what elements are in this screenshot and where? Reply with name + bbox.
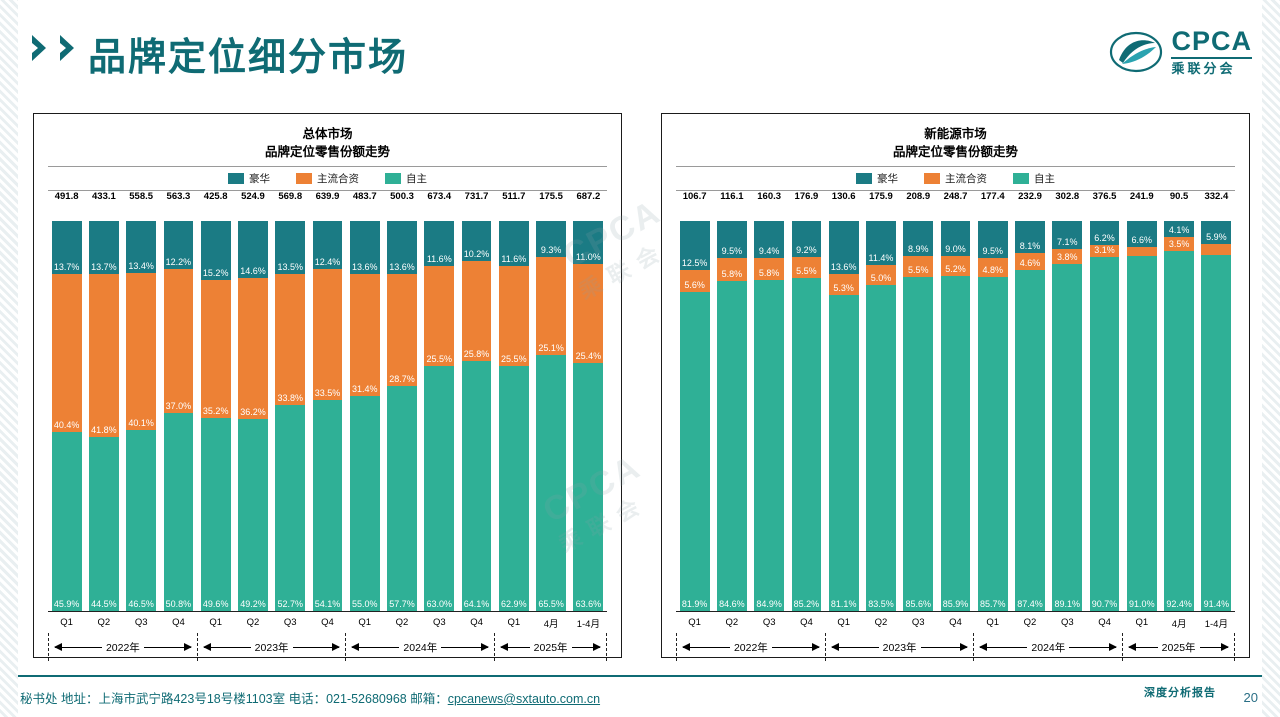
bar-segment-luxury[interactable]: 11.6%	[499, 221, 529, 266]
bar-segment-label: 3.5%	[1169, 239, 1190, 251]
bar-total-label: 511.7	[495, 191, 532, 202]
bar-segment-label: 84.6%	[719, 599, 745, 611]
axis-period-row: Q1Q2Q3Q4Q1Q2Q3Q4Q1Q2Q3Q4Q14月1-4月	[676, 611, 1235, 633]
chart-legend-nev: 豪华主流合资自主	[662, 167, 1249, 188]
bar-segment-luxury[interactable]: 11.4%	[866, 221, 896, 265]
bar-column[interactable]: 248.79.0%5.2%85.9%	[937, 191, 974, 611]
bar-segment-independent[interactable]: 83.5%	[866, 285, 896, 611]
legend-swatch-luxury	[856, 173, 872, 184]
axis-year-group: 2022年	[676, 633, 826, 661]
plot-area-overall: 491.813.7%40.4%45.9%433.113.7%41.8%44.5%…	[48, 191, 607, 611]
bar-column[interactable]: 563.312.2%37.0%50.8%	[160, 191, 197, 611]
axis-year-group: 2024年	[346, 633, 495, 661]
bar-total-label: 241.9	[1123, 191, 1160, 202]
footer-contact-text: 秘书处 地址：上海市武宁路423号18号楼1103室 电话：021-526809…	[20, 692, 448, 706]
bar-column[interactable]: 731.710.2%25.8%64.1%	[458, 191, 495, 611]
bar-total-label: 208.9	[900, 191, 937, 202]
bar-total-label: 248.7	[937, 191, 974, 202]
axis-period-label: Q1	[197, 612, 234, 633]
bar-segment-label: 25.1%	[538, 343, 564, 355]
axis-year-label: 2025年	[530, 640, 572, 655]
bar-segment-luxury[interactable]: 11.0%	[573, 221, 603, 264]
bar-segment-joint_venture[interactable]: 41.8%	[89, 274, 119, 437]
bar-column[interactable]: 524.914.6%36.2%49.2%	[234, 191, 271, 611]
bar-column[interactable]: 302.87.1%3.8%89.1%	[1049, 191, 1086, 611]
bar-segment-independent[interactable]: 81.9%	[680, 292, 710, 611]
x-axis-nev: Q1Q2Q3Q4Q1Q2Q3Q4Q1Q2Q3Q4Q14月1-4月2022年202…	[676, 611, 1235, 663]
bar-column[interactable]: 511.711.6%25.5%62.9%	[495, 191, 532, 611]
bar-segment-label: 15.2%	[203, 268, 229, 280]
axis-period-label: Q1	[1123, 612, 1160, 633]
bar-segment-label: 25.5%	[501, 354, 527, 366]
bar-stack: 8.9%5.5%85.6%	[903, 221, 933, 611]
bar-segment-label: 9.5%	[722, 246, 743, 258]
bar-column[interactable]: 175.59.3%25.1%65.5%	[532, 191, 569, 611]
bar-segment-label: 13.6%	[389, 262, 415, 274]
bar-segment-independent[interactable]: 57.7%	[387, 386, 417, 611]
bar-segment-luxury[interactable]: 12.5%	[680, 221, 710, 270]
bar-column[interactable]: 687.211.0%25.4%63.6%	[570, 191, 607, 611]
bar-segment-label: 41.8%	[91, 425, 117, 437]
chart-title-line2: 品牌定位零售份额走势	[34, 143, 621, 161]
bar-total-label: 558.5	[123, 191, 160, 202]
bar-segment-label: 4.1%	[1169, 225, 1190, 237]
axis-period-label: Q2	[234, 612, 271, 633]
page-header: 品牌定位细分市场 CPCA 乘联分会	[0, 0, 1280, 96]
bar-segment-label: 14.6%	[240, 266, 266, 278]
bar-segment-label: 36.2%	[240, 407, 266, 419]
bar-segment-independent[interactable]: 87.4%	[1015, 270, 1045, 611]
bar-column[interactable]: 433.113.7%41.8%44.5%	[85, 191, 122, 611]
bar-segment-label: 13.7%	[54, 262, 80, 274]
bar-segment-joint_venture[interactable]: 3.5%	[1164, 237, 1194, 251]
bar-segment-joint_venture[interactable]: 25.8%	[462, 261, 492, 362]
bar-segment-independent[interactable]: 64.1%	[462, 361, 492, 611]
bar-total-label: 332.4	[1198, 191, 1235, 202]
bar-segment-independent[interactable]: 81.1%	[829, 295, 859, 611]
bar-segment-joint_venture[interactable]: 37.0%	[164, 269, 194, 413]
bar-segment-joint_venture[interactable]: 25.1%	[536, 257, 566, 355]
bar-segment-label: 4.8%	[982, 265, 1003, 277]
bar-segment-independent[interactable]: 65.5%	[536, 355, 566, 610]
bar-segment-label: 12.4%	[315, 257, 341, 269]
bar-total-label: 483.7	[346, 191, 383, 202]
bar-total-label: 175.9	[862, 191, 899, 202]
legend-swatch-independent	[1013, 173, 1029, 184]
bar-segment-independent[interactable]: 91.4%	[1201, 255, 1231, 611]
axis-period-label: Q3	[751, 612, 788, 633]
bar-stack: 12.4%33.5%54.1%	[313, 221, 343, 611]
bar-segment-label: 3.1%	[1094, 245, 1115, 257]
axis-period-label: Q2	[383, 612, 420, 633]
bar-column[interactable]: 176.99.2%5.5%85.2%	[788, 191, 825, 611]
bar-total-label: 524.9	[234, 191, 271, 202]
bar-segment-label: 9.4%	[759, 246, 780, 258]
bar-total-label: 116.1	[713, 191, 750, 202]
bar-stack: 13.6%28.7%57.7%	[387, 221, 417, 611]
bar-segment-joint_venture[interactable]: 5.3%	[829, 274, 859, 295]
bar-total-label: 425.8	[197, 191, 234, 202]
footer-divider	[18, 675, 1262, 677]
axis-period-label: Q4	[1086, 612, 1123, 633]
bar-segment-label: 11.4%	[869, 253, 894, 265]
bar-segment-label: 9.5%	[982, 246, 1003, 258]
bar-segment-independent[interactable]: 54.1%	[313, 400, 343, 611]
bar-segment-label: 85.6%	[905, 599, 931, 611]
axis-year-group: 2023年	[826, 633, 975, 661]
bar-segment-independent[interactable]: 63.6%	[573, 363, 603, 611]
bar-total-label: 569.8	[272, 191, 309, 202]
bar-segment-label: 5.5%	[796, 266, 817, 278]
bar-segment-independent[interactable]: 84.6%	[717, 281, 747, 611]
bar-segment-independent[interactable]: 55.0%	[350, 396, 380, 611]
legend-item-joint_venture[interactable]: 主流合资	[924, 171, 987, 186]
bar-segment-independent[interactable]: 89.1%	[1052, 264, 1082, 611]
bar-segment-label: 5.8%	[759, 268, 780, 280]
axis-period-label: 4月	[532, 612, 569, 633]
bar-segment-label: 50.8%	[166, 599, 192, 611]
bar-total-label: 673.4	[421, 191, 458, 202]
bar-stack: 8.1%4.6%87.4%	[1015, 221, 1045, 611]
bar-segment-label: 85.7%	[980, 599, 1006, 611]
bar-segment-label: 81.1%	[831, 599, 857, 611]
bar-segment-label: 6.6%	[1132, 235, 1153, 247]
bar-segment-luxury[interactable]: 6.2%	[1090, 221, 1120, 245]
bar-segment-luxury[interactable]: 13.6%	[387, 221, 417, 274]
bar-segment-luxury[interactable]: 13.7%	[52, 221, 82, 274]
bar-segment-joint_venture[interactable]: 2.7%	[1201, 244, 1231, 255]
bar-segment-joint_venture[interactable]: 2.4%	[1127, 247, 1157, 256]
axis-period-label: Q1	[48, 612, 85, 633]
footer-email-link[interactable]: cpcanews@sxtauto.com.cn	[448, 692, 600, 706]
bar-column[interactable]: 208.98.9%5.5%85.6%	[900, 191, 937, 611]
bar-total-label: 500.3	[383, 191, 420, 202]
bar-segment-joint_venture[interactable]: 5.8%	[717, 258, 747, 281]
axis-year-row: 2022年2023年2024年2025年	[48, 633, 607, 661]
bar-segment-luxury[interactable]: 9.4%	[754, 221, 784, 258]
bar-segment-independent[interactable]: 90.7%	[1090, 257, 1120, 611]
bar-segment-label: 91.4%	[1204, 599, 1230, 611]
axis-year-group: 2025年	[495, 633, 607, 661]
bar-column[interactable]: 175.911.4%5.0%83.5%	[862, 191, 899, 611]
bar-segment-luxury[interactable]: 14.6%	[238, 221, 268, 278]
bar-segment-joint_venture[interactable]: 33.8%	[275, 274, 305, 406]
bar-segment-label: 31.4%	[352, 384, 378, 396]
bar-total-label: 491.8	[48, 191, 85, 202]
bar-segment-luxury[interactable]: 13.7%	[89, 221, 119, 274]
bar-segment-label: 5.2%	[945, 264, 966, 276]
plot-area-nev: 106.712.5%5.6%81.9%116.19.5%5.8%84.6%160…	[676, 191, 1235, 611]
bar-segment-label: 28.7%	[389, 374, 415, 386]
bar-segment-joint_venture[interactable]: 5.6%	[680, 270, 710, 292]
legend-item-independent[interactable]: 自主	[385, 171, 427, 186]
bar-segment-luxury[interactable]: 9.3%	[536, 221, 566, 257]
bar-segment-independent[interactable]: 63.0%	[424, 366, 454, 611]
bar-segment-independent[interactable]: 84.9%	[754, 280, 784, 611]
bar-segment-luxury[interactable]: 12.2%	[164, 221, 194, 269]
bar-segment-joint_venture[interactable]: 5.0%	[866, 265, 896, 285]
axis-period-label: Q2	[862, 612, 899, 633]
bar-segment-label: 33.8%	[277, 393, 303, 405]
bar-total-label: 302.8	[1049, 191, 1086, 202]
bar-segment-label: 12.5%	[682, 258, 708, 270]
bar-segment-luxury[interactable]: 11.6%	[424, 221, 454, 266]
bar-segment-label: 83.5%	[868, 599, 894, 611]
bar-segment-luxury[interactable]: 4.1%	[1164, 221, 1194, 237]
bar-column[interactable]: 639.912.4%33.5%54.1%	[309, 191, 346, 611]
axis-period-label: Q3	[421, 612, 458, 633]
bar-column[interactable]: 90.54.1%3.5%92.4%	[1160, 191, 1197, 611]
bar-column[interactable]: 332.45.9%2.7%91.4%	[1198, 191, 1235, 611]
axis-period-label: 4月	[1160, 612, 1197, 633]
legend-item-joint_venture[interactable]: 主流合资	[296, 171, 359, 186]
bar-column[interactable]: 106.712.5%5.6%81.9%	[676, 191, 713, 611]
bar-segment-label: 13.6%	[352, 262, 378, 274]
bar-stack: 12.5%5.6%81.9%	[680, 221, 710, 611]
chart-title-nev: 新能源市场 品牌定位零售份额走势	[662, 125, 1249, 161]
bar-total-label: 175.5	[532, 191, 569, 202]
bar-column[interactable]: 160.39.4%5.8%84.9%	[751, 191, 788, 611]
bar-segment-label: 5.6%	[684, 280, 705, 292]
bar-segment-luxury[interactable]: 13.6%	[829, 221, 859, 274]
bar-segment-luxury[interactable]: 13.5%	[275, 221, 305, 274]
bar-segment-label: 5.0%	[871, 273, 892, 285]
bar-segment-independent[interactable]: 45.9%	[52, 432, 82, 611]
bar-segment-joint_venture[interactable]: 33.5%	[313, 269, 343, 400]
axis-year-label: 2025年	[1158, 640, 1200, 655]
bar-total-label: 731.7	[458, 191, 495, 202]
bar-segment-label: 5.5%	[908, 265, 929, 277]
cpca-bird-logo-icon	[1109, 30, 1163, 74]
bar-segment-luxury[interactable]: 8.9%	[903, 221, 933, 256]
bar-stack: 9.3%25.1%65.5%	[536, 221, 566, 611]
bar-segment-label: 3.8%	[1057, 252, 1078, 264]
chart-legend-overall: 豪华主流合资自主	[34, 167, 621, 188]
bar-segment-label: 89.1%	[1055, 599, 1081, 611]
bar-segment-joint_venture[interactable]: 25.5%	[424, 266, 454, 365]
axis-period-label: Q3	[123, 612, 160, 633]
bar-stack: 9.0%5.2%85.9%	[941, 221, 971, 611]
bar-column[interactable]: 569.813.5%33.8%52.7%	[272, 191, 309, 611]
bar-segment-joint_venture[interactable]: 5.5%	[903, 256, 933, 277]
bar-stack: 13.7%40.4%45.9%	[52, 221, 82, 611]
logo-brand-name: CPCA	[1171, 28, 1252, 55]
bar-segment-label: 9.0%	[945, 244, 966, 256]
bar-segment-luxury[interactable]: 9.5%	[978, 221, 1008, 258]
bar-segment-independent[interactable]: 85.2%	[792, 278, 822, 610]
bar-stack: 4.1%3.5%92.4%	[1164, 221, 1194, 611]
bar-segment-luxury[interactable]: 12.4%	[313, 221, 343, 269]
bar-segment-independent[interactable]: 50.8%	[164, 413, 194, 611]
axis-year-group: 2022年	[48, 633, 198, 661]
cpca-logo: CPCA 乘联分会	[1109, 28, 1252, 75]
bar-segment-label: 33.5%	[315, 388, 341, 400]
bar-segment-joint_venture[interactable]: 5.8%	[754, 258, 784, 281]
bar-segment-label: 8.1%	[1020, 241, 1041, 253]
bar-stack: 5.9%2.7%91.4%	[1201, 221, 1231, 611]
bar-total-label: 433.1	[85, 191, 122, 202]
axis-period-label: Q4	[309, 612, 346, 633]
bar-segment-independent[interactable]: 49.2%	[238, 419, 268, 611]
bar-segment-luxury[interactable]: 13.4%	[126, 221, 156, 273]
bar-column[interactable]: 130.613.6%5.3%81.1%	[825, 191, 862, 611]
x-axis-overall: Q1Q2Q3Q4Q1Q2Q3Q4Q1Q2Q3Q4Q14月1-4月2022年202…	[48, 611, 607, 663]
axis-period-label: Q4	[458, 612, 495, 633]
axis-period-label: Q4	[160, 612, 197, 633]
bar-total-label: 176.9	[788, 191, 825, 202]
chart-panel-overall: 总体市场 品牌定位零售份额走势 豪华主流合资自主 491.813.7%40.4%…	[33, 113, 622, 658]
bar-total-label: 177.4	[974, 191, 1011, 202]
axis-year-group: 2023年	[198, 633, 347, 661]
bar-column[interactable]: 177.49.5%4.8%85.7%	[974, 191, 1011, 611]
bar-column[interactable]: 116.19.5%5.8%84.6%	[713, 191, 750, 611]
bar-segment-label: 45.9%	[54, 599, 80, 611]
bar-segment-label: 63.0%	[427, 599, 453, 611]
bar-segment-joint_venture[interactable]: 3.1%	[1090, 245, 1120, 257]
bar-stack: 13.5%33.8%52.7%	[275, 221, 305, 611]
bar-stack: 13.6%5.3%81.1%	[829, 221, 859, 611]
bar-segment-luxury[interactable]: 9.0%	[941, 221, 971, 256]
bar-segment-joint_venture[interactable]: 3.8%	[1052, 249, 1082, 264]
bar-segment-label: 11.6%	[427, 254, 452, 266]
bar-stack: 9.2%5.5%85.2%	[792, 221, 822, 611]
bar-stack: 13.6%31.4%55.0%	[350, 221, 380, 611]
legend-item-luxury[interactable]: 豪华	[856, 171, 898, 186]
bar-segment-joint_venture[interactable]: 35.2%	[201, 280, 231, 417]
bar-stack: 13.4%40.1%46.5%	[126, 221, 156, 611]
bar-column[interactable]: 491.813.7%40.4%45.9%	[48, 191, 85, 611]
bar-segment-label: 62.9%	[501, 599, 527, 611]
bar-column[interactable]: 483.713.6%31.4%55.0%	[346, 191, 383, 611]
bar-segment-luxury[interactable]: 9.5%	[717, 221, 747, 258]
axis-period-label: Q2	[713, 612, 750, 633]
bar-segment-label: 25.4%	[576, 351, 602, 363]
legend-item-independent[interactable]: 自主	[1013, 171, 1055, 186]
bar-segment-independent[interactable]: 92.4%	[1164, 251, 1194, 611]
axis-period-row: Q1Q2Q3Q4Q1Q2Q3Q4Q1Q2Q3Q4Q14月1-4月	[48, 611, 607, 633]
axis-period-label: Q3	[1049, 612, 1086, 633]
legend-swatch-luxury	[228, 173, 244, 184]
bar-segment-joint_venture[interactable]: 5.2%	[941, 256, 971, 276]
bar-column[interactable]: 673.411.6%25.5%63.0%	[421, 191, 458, 611]
legend-swatch-joint_venture	[296, 173, 312, 184]
bar-segment-label: 7.1%	[1057, 237, 1078, 249]
bar-segment-luxury[interactable]: 13.6%	[350, 221, 380, 274]
axis-period-label: Q2	[1011, 612, 1048, 633]
bar-segment-luxury[interactable]: 6.6%	[1127, 221, 1157, 247]
bar-segment-joint_venture[interactable]: 4.8%	[978, 258, 1008, 277]
bar-segment-label: 40.1%	[128, 418, 154, 430]
legend-item-luxury[interactable]: 豪华	[228, 171, 270, 186]
bar-segment-label: 25.8%	[464, 349, 490, 361]
axis-year-label: 2023年	[251, 640, 293, 655]
logo-brand-subtitle: 乘联分会	[1171, 62, 1252, 75]
bar-column[interactable]: 376.56.2%3.1%90.7%	[1086, 191, 1123, 611]
axis-year-label: 2023年	[879, 640, 921, 655]
bar-segment-label: 6.2%	[1094, 233, 1115, 245]
bar-segment-label: 49.2%	[240, 599, 266, 611]
bar-segment-independent[interactable]: 85.6%	[903, 277, 933, 611]
axis-period-label: Q4	[788, 612, 825, 633]
bar-segment-label: 57.7%	[389, 599, 415, 611]
bar-segment-joint_venture[interactable]: 40.1%	[126, 273, 156, 429]
bar-segment-label: 5.8%	[722, 269, 743, 281]
bar-segment-label: 11.0%	[576, 252, 601, 264]
bar-column[interactable]: 425.815.2%35.2%49.6%	[197, 191, 234, 611]
bar-segment-label: 52.7%	[277, 599, 303, 611]
bar-segment-joint_venture[interactable]: 5.5%	[792, 257, 822, 278]
bar-segment-independent[interactable]: 49.6%	[201, 418, 231, 611]
legend-swatch-independent	[385, 173, 401, 184]
bar-segment-joint_venture[interactable]: 28.7%	[387, 274, 417, 386]
bar-total-label: 639.9	[309, 191, 346, 202]
axis-period-label: Q2	[85, 612, 122, 633]
bar-column[interactable]: 241.96.6%2.4%91.0%	[1123, 191, 1160, 611]
bar-segment-label: 5.3%	[833, 283, 854, 295]
bar-segment-luxury[interactable]: 5.9%	[1201, 221, 1231, 244]
bar-segment-luxury[interactable]: 7.1%	[1052, 221, 1082, 249]
page-number: 20	[1244, 690, 1258, 705]
bar-segment-joint_venture[interactable]: 4.6%	[1015, 253, 1045, 271]
bar-segment-luxury[interactable]: 15.2%	[201, 221, 231, 280]
bar-segment-luxury[interactable]: 10.2%	[462, 221, 492, 261]
bar-segment-label: 10.2%	[464, 249, 490, 261]
axis-year-label: 2024年	[1027, 640, 1069, 655]
logo-divider	[1171, 57, 1252, 59]
axis-period-label: Q1	[676, 612, 713, 633]
bar-segment-independent[interactable]: 44.5%	[89, 437, 119, 611]
bar-segment-joint_venture[interactable]: 25.4%	[573, 264, 603, 363]
legend-swatch-joint_venture	[924, 173, 940, 184]
bar-segment-joint_venture[interactable]: 31.4%	[350, 274, 380, 396]
bar-stack: 11.4%5.0%83.5%	[866, 221, 896, 611]
bar-total-label: 563.3	[160, 191, 197, 202]
bar-segment-independent[interactable]: 85.7%	[978, 277, 1008, 611]
bar-column[interactable]: 500.313.6%28.7%57.7%	[383, 191, 420, 611]
bar-segment-label: 91.0%	[1129, 599, 1155, 611]
bar-segment-luxury[interactable]: 9.2%	[792, 221, 822, 257]
bar-segment-joint_venture[interactable]: 25.5%	[499, 266, 529, 365]
bar-stack: 9.5%5.8%84.6%	[717, 221, 747, 611]
axis-year-group: 2024年	[974, 633, 1123, 661]
bar-segment-independent[interactable]: 85.9%	[941, 276, 971, 611]
bar-segment-independent[interactable]: 52.7%	[275, 405, 305, 611]
bar-column[interactable]: 232.98.1%4.6%87.4%	[1011, 191, 1048, 611]
bar-stack: 12.2%37.0%50.8%	[164, 221, 194, 611]
bar-segment-label: 90.7%	[1092, 599, 1118, 611]
bar-segment-label: 84.9%	[756, 599, 782, 611]
bar-total-label: 130.6	[825, 191, 862, 202]
bar-segment-independent[interactable]: 46.5%	[126, 430, 156, 611]
bar-segment-label: 25.5%	[427, 354, 453, 366]
bar-segment-luxury[interactable]: 8.1%	[1015, 221, 1045, 253]
bar-stack: 10.2%25.8%64.1%	[462, 221, 492, 611]
bar-segment-label: 85.9%	[943, 599, 969, 611]
bar-segment-joint_venture[interactable]: 40.4%	[52, 274, 82, 432]
axis-year-label: 2022年	[102, 640, 144, 655]
page-title: 品牌定位细分市场	[88, 26, 408, 81]
bar-segment-label: 11.6%	[501, 254, 526, 266]
bar-segment-independent[interactable]: 91.0%	[1127, 256, 1157, 611]
bar-column[interactable]: 558.513.4%40.1%46.5%	[123, 191, 160, 611]
bar-segment-independent[interactable]: 62.9%	[499, 366, 529, 611]
legend-label-joint_venture: 主流合资	[945, 171, 987, 186]
bar-segment-joint_venture[interactable]: 36.2%	[238, 278, 268, 419]
bar-stack: 9.4%5.8%84.9%	[754, 221, 784, 611]
right-edge-decoration	[1262, 0, 1280, 717]
axis-period-label: 1-4月	[1198, 612, 1235, 633]
legend-label-independent: 自主	[1034, 171, 1055, 186]
